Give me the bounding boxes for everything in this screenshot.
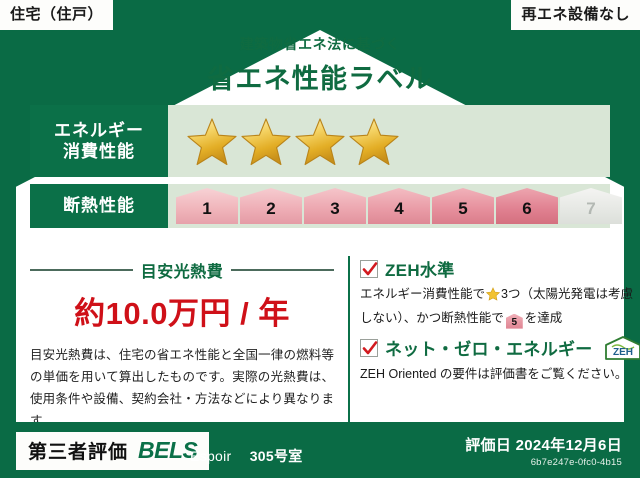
footer-bar: 第三者評価 BELS Espoir 305号室 評価日 2024年12月6日 6… [0, 422, 640, 478]
insulation-level-badge: 1 [176, 188, 238, 224]
heading-rule-left [30, 269, 133, 271]
energy-cost-heading: 目安光熱費 [30, 258, 334, 282]
zeh-standard-text-3: を達成 [525, 311, 563, 325]
third-party-label: 第三者評価 [28, 437, 128, 464]
zeh-netzero-header: ネット・ゼロ・エネルギー ZEH ZEH Oriented [360, 335, 640, 361]
insulation-label-text: 断熱性能 [63, 195, 135, 216]
zeh-logo-badge: ZEH ZEH Oriented [603, 335, 640, 361]
energy-star-rating [168, 105, 610, 177]
inline-star-icon [486, 287, 500, 308]
energy-cost-note: 目安光熱費は、住宅の省エネ性能と全国一律の燃料等の単価を用いて算出したものです。… [30, 345, 334, 433]
tag-building-type: 住宅（住戸） [0, 0, 115, 30]
bels-logo: 第三者評価 BELS [16, 432, 209, 470]
star-icon [240, 116, 292, 166]
insulation-level-badge: 3 [304, 188, 366, 224]
zeh-netzero-title: ネット・ゼロ・エネルギー [385, 335, 593, 360]
star-icon [348, 116, 400, 166]
zeh-standard-header: ZEH水準 [360, 256, 640, 281]
evaluation-date: 評価日 2024年12月6日 [465, 434, 622, 455]
zeh-standard-body: エネルギー消費性能で 3つ（太陽光発電は考慮しない）、かつ断熱性能で5を達成 [360, 284, 640, 329]
check-icon [362, 261, 378, 278]
check-icon [362, 340, 378, 357]
zeh-netzero-block: ネット・ゼロ・エネルギー ZEH ZEH Oriented ZEH Ori [360, 335, 640, 385]
insulation-performance-label: 断熱性能 [30, 184, 168, 228]
evaluation-code: 6b7e247e-0fc0-4b15 [465, 457, 622, 468]
bels-wordmark: BELS [138, 437, 197, 464]
energy-cost-value: 約10.0万円 / 年 [30, 288, 334, 333]
star-icon [294, 116, 346, 166]
zeh-standard-checkbox[interactable] [360, 260, 378, 278]
insulation-level-badge: 6 [496, 188, 558, 224]
energy-label-root: 住宅（住戸） 再エネ設備なし 建築物省エネ法に基づく 省エネ性能ラベル エネルギ… [0, 0, 640, 478]
heading-rule-right [231, 269, 334, 271]
insulation-level-track: 1234567 [168, 188, 622, 224]
energy-performance-row: エネルギー 消費性能 [30, 105, 610, 177]
inline-insulation-badge: 5 [506, 314, 523, 329]
energy-cost-heading-text: 目安光熱費 [141, 258, 224, 282]
zeh-netzero-body: ZEH Oriented の要件は評価書をご覧ください。 [360, 364, 640, 385]
insulation-level-badge: 5 [432, 188, 494, 224]
performance-section: エネルギー 消費性能 断熱性能 1234567 [30, 105, 610, 235]
zeh-netzero-checkbox[interactable] [360, 339, 378, 357]
evaluation-info: 評価日 2024年12月6日 6b7e247e-0fc0-4b15 [465, 434, 622, 468]
insulation-performance-row: 断熱性能 1234567 [30, 184, 610, 228]
energy-performance-label: エネルギー 消費性能 [30, 105, 168, 177]
tag-renewable-equipment: 再エネ設備なし [509, 0, 640, 30]
zeh-standard-text-1: エネルギー消費性能で [360, 287, 485, 301]
star-icon [186, 116, 238, 166]
insulation-level-badge: 4 [368, 188, 430, 224]
insulation-level-badge: 7 [560, 188, 622, 224]
building-unit-info: Espoir 305号室 [190, 446, 303, 466]
energy-label-line1: エネルギー [54, 120, 144, 141]
zeh-standard-title: ZEH水準 [385, 256, 455, 281]
energy-label-line2: 消費性能 [63, 141, 135, 162]
room-number: 305号室 [250, 448, 303, 464]
insulation-level-badge: 2 [240, 188, 302, 224]
svg-text:ZEH: ZEH [613, 347, 633, 358]
zeh-standard-block: ZEH水準 エネルギー消費性能で 3つ（太陽光発電は考慮しない）、かつ断熱性能で… [360, 256, 640, 329]
building-name: Espoir [190, 448, 231, 464]
